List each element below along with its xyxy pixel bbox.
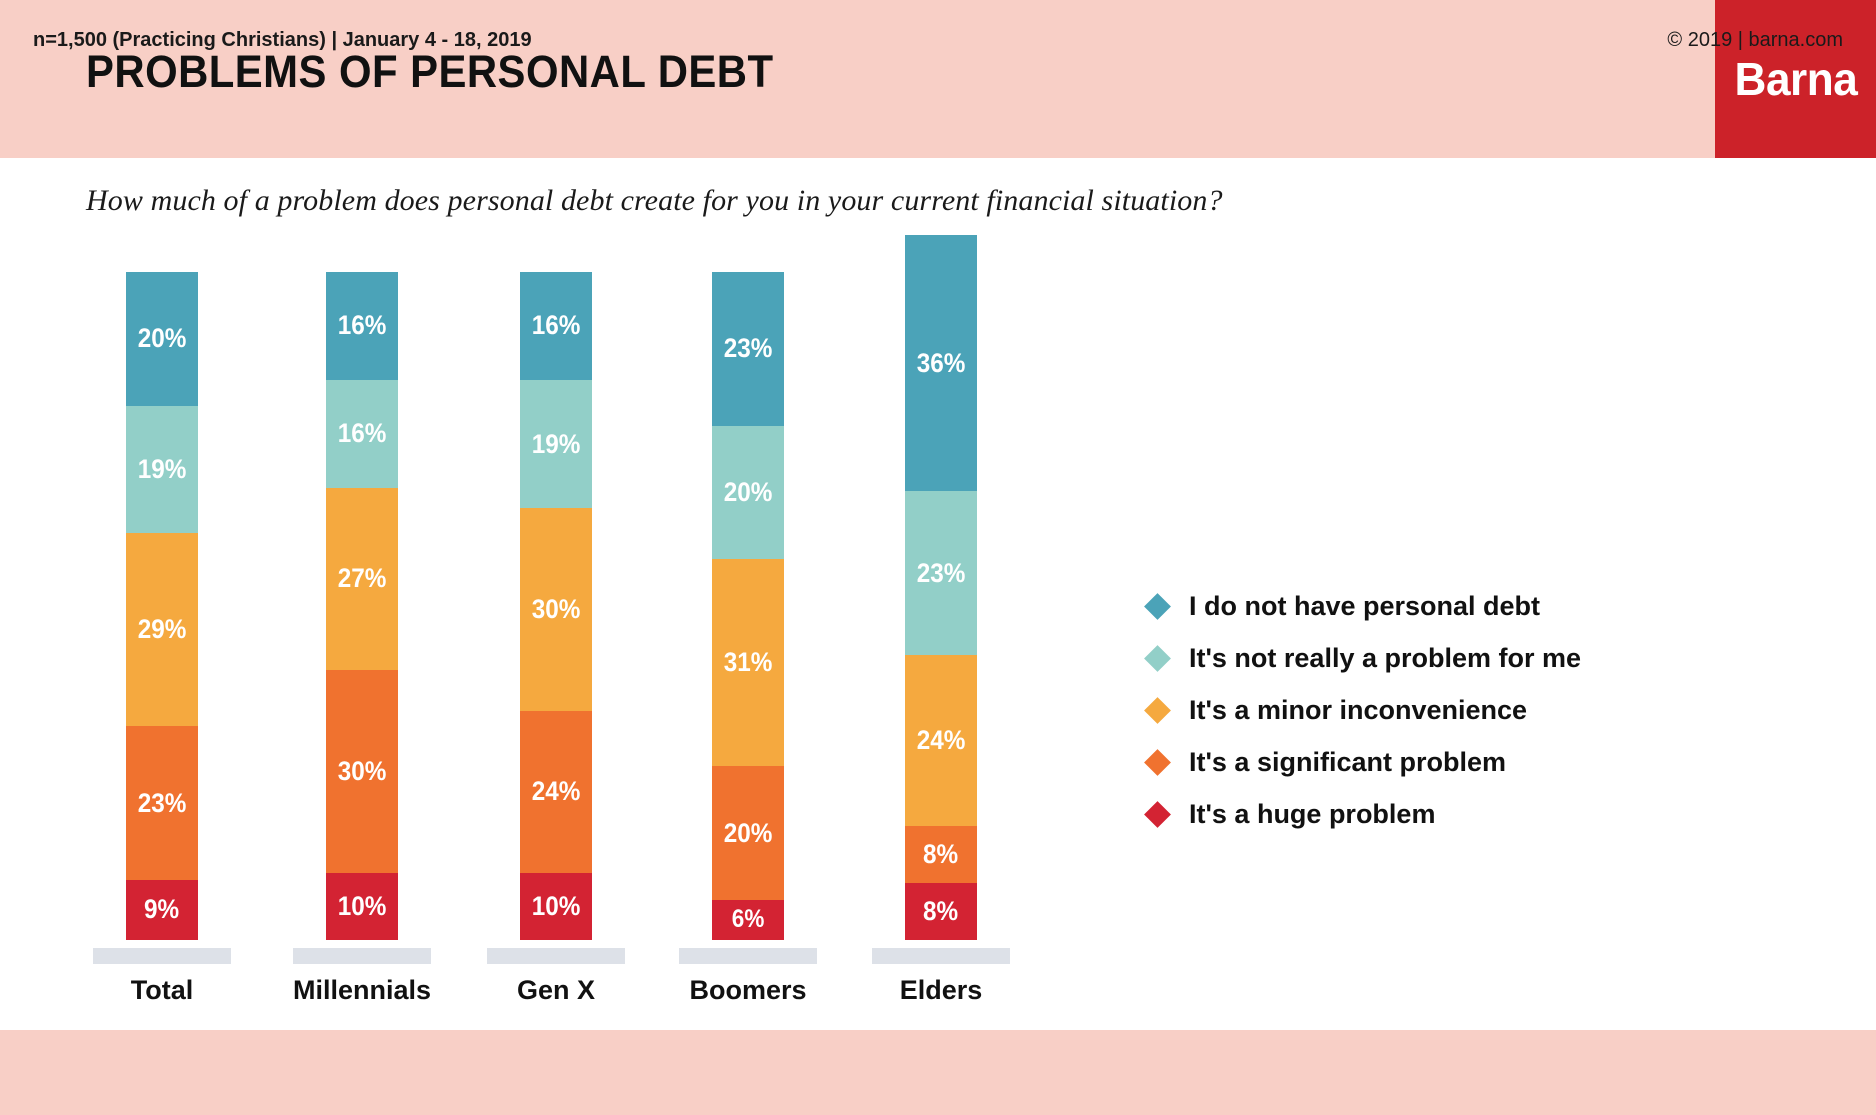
bar-segment: 20% — [712, 426, 784, 560]
bar-segment: 8% — [905, 883, 977, 940]
infographic-root: PROBLEMS OF PERSONAL DEBT Barna How much… — [0, 0, 1876, 1115]
bar-segment-value: 8% — [923, 898, 958, 925]
bar-segment-value: 10% — [338, 893, 387, 920]
bar-segment-value: 6% — [732, 907, 765, 932]
legend-item-label: It's not really a problem for me — [1189, 643, 1581, 674]
bar-segment: 31% — [712, 559, 784, 766]
bar-segment-value: 9% — [144, 896, 179, 923]
bar-segment-value: 27% — [338, 565, 387, 592]
bar-segment: 23% — [712, 272, 784, 426]
footer-sample-note: n=1,500 (Practicing Christians) | Januar… — [33, 29, 532, 52]
bar-segment-value: 24% — [532, 778, 581, 805]
bar-segment: 24% — [905, 655, 977, 826]
legend-diamond-icon — [1144, 749, 1171, 776]
bar-segment-value: 23% — [724, 335, 773, 362]
bar-column: 16%16%27%30%10% — [326, 272, 398, 940]
legend-diamond-icon — [1144, 801, 1171, 828]
bar-segment-value: 36% — [917, 350, 966, 377]
chart-legend: I do not have personal debtIt's not real… — [1148, 580, 1708, 840]
bar-base-tick — [93, 948, 231, 964]
bar-segment: 23% — [126, 726, 198, 880]
bar-segment-value: 19% — [138, 456, 187, 483]
bar-segment: 19% — [520, 380, 592, 508]
bar-segment-value: 23% — [138, 790, 187, 817]
bar-base-tick — [293, 948, 431, 964]
bar-segment: 27% — [326, 488, 398, 670]
barna-logo: Barna — [1715, 0, 1876, 158]
legend-item[interactable]: It's a huge problem — [1148, 788, 1708, 840]
legend-item-label: It's a huge problem — [1189, 799, 1435, 830]
legend-diamond-icon — [1144, 645, 1171, 672]
bar-segment-value: 30% — [532, 596, 581, 623]
legend-diamond-icon — [1144, 593, 1171, 620]
bar-segment: 10% — [326, 873, 398, 940]
bar-column: 20%19%29%23%9% — [126, 272, 198, 940]
bar-segment-value: 20% — [724, 820, 773, 847]
bar-segment: 20% — [126, 272, 198, 406]
bar-segment-value: 19% — [532, 431, 581, 458]
legend-item[interactable]: I do not have personal debt — [1148, 580, 1708, 632]
bar-segment-value: 24% — [917, 727, 966, 754]
bar-segment: 30% — [520, 508, 592, 710]
bar-segment: 20% — [712, 766, 784, 900]
bar-segment: 16% — [520, 272, 592, 380]
bar-segment-value: 20% — [138, 325, 187, 352]
bar-segment: 6% — [712, 900, 784, 940]
bar-segment: 19% — [126, 406, 198, 533]
bar-segment-value: 16% — [338, 420, 387, 447]
bar-segment-value: 16% — [532, 312, 581, 339]
bar-segment-value: 29% — [138, 616, 187, 643]
stacked-bar-chart: 20%19%29%23%9%Total16%16%27%30%10%Millen… — [0, 0, 1100, 1000]
bar-segment-value: 20% — [724, 479, 773, 506]
bar-segment: 9% — [126, 880, 198, 940]
bar-segment: 29% — [126, 533, 198, 727]
legend-item[interactable]: It's a significant problem — [1148, 736, 1708, 788]
legend-diamond-icon — [1144, 697, 1171, 724]
brand-logo-text: Barna — [1734, 52, 1857, 106]
bar-segment-value: 23% — [917, 560, 966, 587]
bar-segment: 24% — [520, 711, 592, 873]
bar-column: 23%20%31%20%6% — [712, 272, 784, 940]
bar-segment: 30% — [326, 670, 398, 872]
legend-item-label: It's a minor inconvenience — [1189, 695, 1527, 726]
bar-column: 36%23%24%8%8% — [905, 235, 977, 940]
legend-item-label: It's a significant problem — [1189, 747, 1506, 778]
x-axis-category-label: Elders — [801, 975, 1081, 1006]
bar-segment: 36% — [905, 235, 977, 491]
legend-item-label: I do not have personal debt — [1189, 591, 1540, 622]
legend-item[interactable]: It's not really a problem for me — [1148, 632, 1708, 684]
bar-segment: 8% — [905, 826, 977, 883]
bar-segment: 23% — [905, 491, 977, 655]
bar-segment: 16% — [326, 272, 398, 380]
bar-segment: 16% — [326, 380, 398, 488]
bar-segment-value: 31% — [724, 649, 773, 676]
bar-segment-value: 8% — [923, 841, 958, 868]
bar-segment-value: 10% — [532, 893, 581, 920]
bar-segment-value: 16% — [338, 312, 387, 339]
bar-column: 16%19%30%24%10% — [520, 272, 592, 940]
bar-base-tick — [679, 948, 817, 964]
bar-base-tick — [487, 948, 625, 964]
footer-copyright: © 2019 | barna.com — [1667, 29, 1843, 52]
legend-item[interactable]: It's a minor inconvenience — [1148, 684, 1708, 736]
bar-segment: 10% — [520, 873, 592, 940]
bar-segment-value: 30% — [338, 758, 387, 785]
bar-base-tick — [872, 948, 1010, 964]
footer-band — [0, 1030, 1876, 1115]
